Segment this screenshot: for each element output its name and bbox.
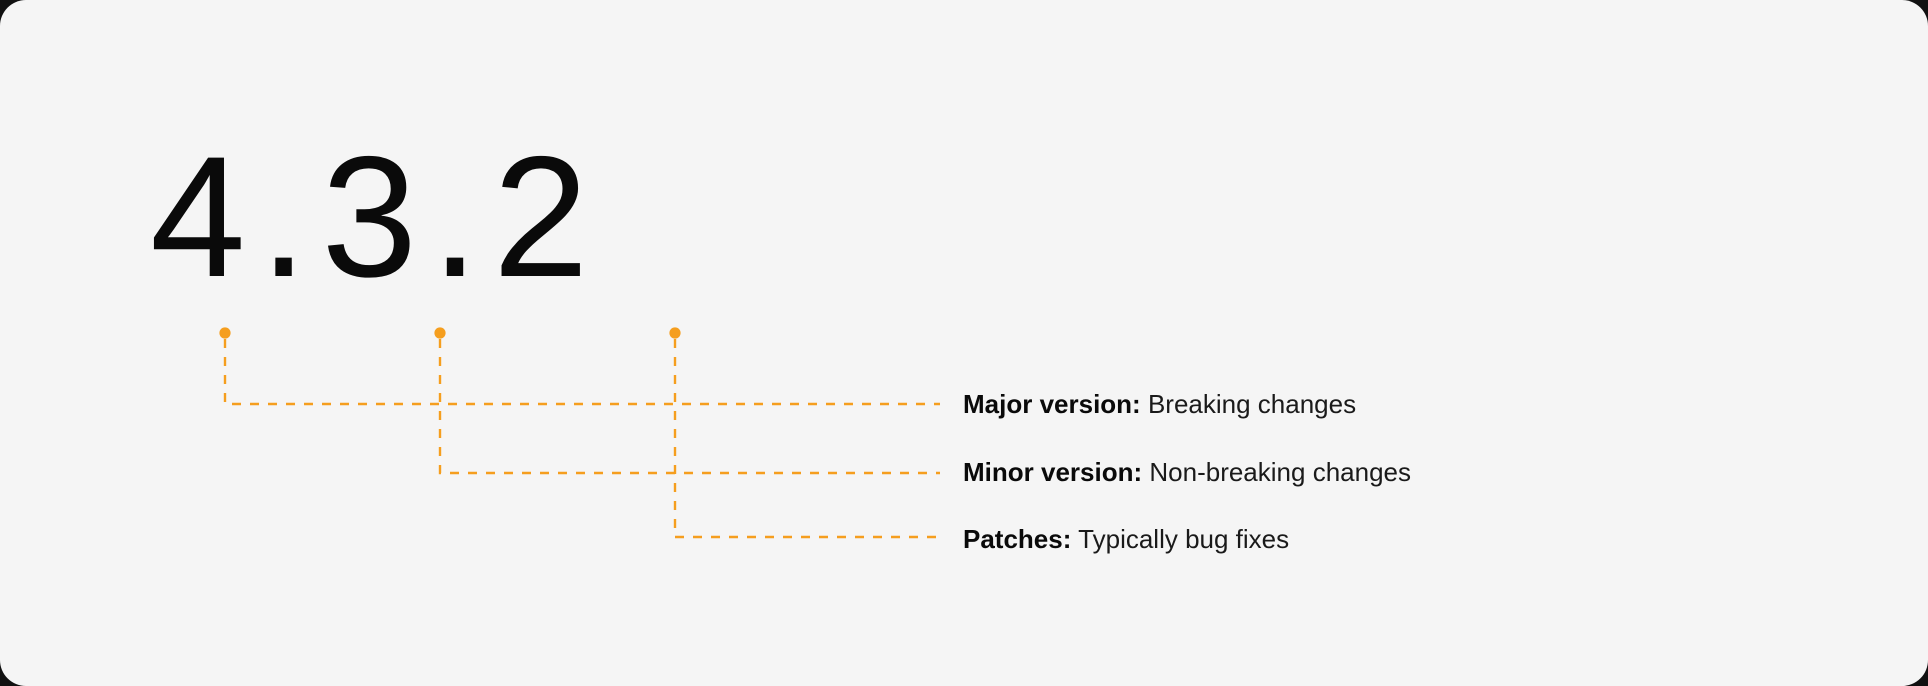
connector-line: [440, 339, 940, 473]
callout-desc-patches: Typically bug fixes: [1078, 524, 1289, 554]
callout-label-minor: Minor version: Non-breaking changes: [963, 457, 1411, 487]
connector-0: [219, 327, 940, 404]
connector-line: [675, 339, 940, 537]
callout-connectors: [0, 0, 1928, 686]
callout-dot-icon: [669, 327, 680, 338]
connector-1: [434, 327, 940, 473]
callout-term-minor: Minor version:: [963, 457, 1142, 487]
callout-label-patches: Patches: Typically bug fixes: [963, 524, 1289, 554]
diagram-canvas: 4.3.2 Major version: Breaking changes Mi…: [0, 0, 1928, 686]
callout-term-major: Major version:: [963, 389, 1141, 419]
callout-label-major: Major version: Breaking changes: [963, 389, 1356, 419]
callout-desc-major: Breaking changes: [1148, 389, 1356, 419]
connector-2: [669, 327, 940, 537]
version-number-display: 4.3.2: [150, 131, 603, 303]
connector-line: [225, 339, 940, 404]
callout-dot-icon: [434, 327, 445, 338]
callout-dot-icon: [219, 327, 230, 338]
callout-term-patches: Patches:: [963, 524, 1071, 554]
callout-desc-minor: Non-breaking changes: [1149, 457, 1411, 487]
